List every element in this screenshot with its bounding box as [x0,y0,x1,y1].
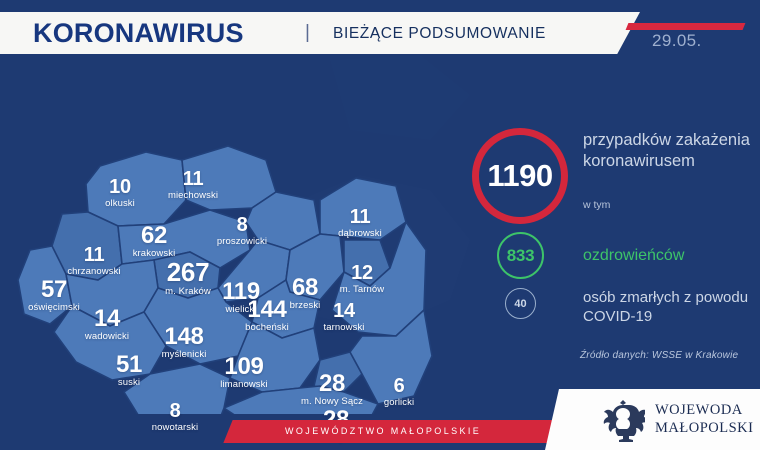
deaths-value: 40 [514,298,526,310]
cases-ring: 1190 [472,128,568,224]
in-which-label: w tym [583,199,610,211]
data-source: Źródło danych: WSSE w Krakowie [580,350,738,361]
header-red-accent [626,23,746,30]
brand-line-2: MAŁOPOLSKI [655,420,753,438]
polish-eagle-emblem [601,396,645,444]
deaths-ring: 40 [505,288,536,319]
header-separator: | [305,22,310,44]
header: KORONAWIRUS | BIEŻĄCE PODSUMOWANIE 29.05… [0,0,760,66]
map-regions [18,146,432,414]
infographic-root: KORONAWIRUS | BIEŻĄCE PODSUMOWANIE 29.05… [0,0,760,450]
cases-value: 1190 [487,158,552,194]
deaths-label: osób zmarłych z powodu COVID-19 [583,288,758,326]
brand-text: WOJEWODA MAŁOPOLSKI [655,402,753,437]
header-date: 29.05. [652,30,702,52]
stats-panel: 1190 przypadków zakażenia koronawirusem … [455,118,755,348]
header-subtitle: BIEŻĄCE PODSUMOWANIE [333,24,546,44]
brand-line-1: WOJEWODA [655,402,753,420]
map-svg [14,74,444,414]
recovered-value: 833 [507,246,534,266]
cases-label: przypadków zakażenia koronawirusem [583,130,760,172]
map-malopolska [14,74,444,414]
recovered-label: ozdrowieńców [583,246,684,266]
region-banner-label: WOJEWÓDZTWO MAŁOPOLSKIE [285,425,481,438]
recovered-ring: 833 [497,232,544,279]
district-name: nowotarski [152,422,198,434]
page-title: KORONAWIRUS [33,19,244,47]
